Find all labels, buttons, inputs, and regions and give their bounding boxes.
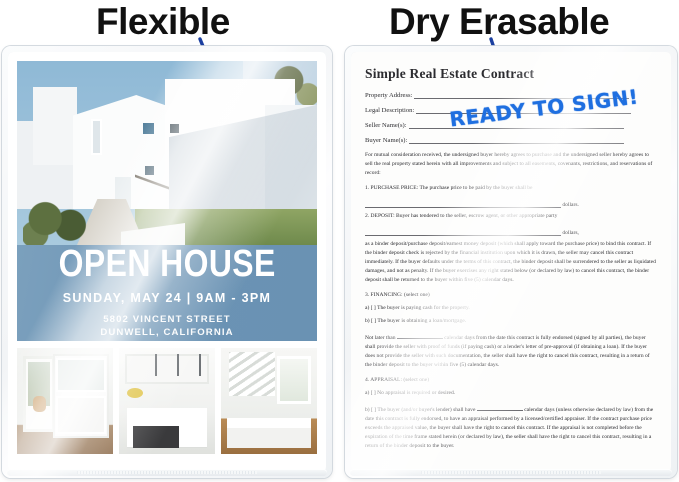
section-3-body-post: calendar days from the date this contrac… [365,335,650,368]
section-1-amount-row: dollars. [365,200,657,208]
field-label: Seller Name(s): [365,122,407,129]
section-4-body-pre: b) [ ] The buyer (and/or buyer's lender)… [365,407,475,413]
field-rule[interactable] [409,136,624,144]
sleeve-opening-lip-left [7,469,327,476]
section-4-option-a[interactable]: a) [ ] No appraisal is required or desir… [365,389,657,398]
interior-photo-strip [17,348,317,454]
field-label: Buyer Name(s): [365,137,407,144]
window-tall [91,119,102,155]
window-square-dark [170,124,179,133]
days-blank[interactable] [477,404,523,411]
days-blank[interactable] [397,332,443,339]
amount-rule[interactable] [365,200,561,208]
thumb-stairs-counter [221,348,317,454]
section-3-option-a[interactable]: a) [ ] The buyer is paying cash for the … [365,304,657,313]
document-sleeve-left[interactable]: OPEN HOUSE SUNDAY, MAY 24 | 9AM - 3PM 58… [2,46,332,478]
open-house-address: 5802 VINCENT STREET DUNWELL, CALIFORNIA [100,314,233,340]
open-house-title: OPEN HOUSE [58,246,275,282]
amount-rule[interactable] [365,228,561,236]
thumb-entry-cabinetry [17,348,113,454]
shrubbery [23,201,97,245]
section-3-heading: 3. FINANCING: (select one) [365,291,657,300]
open-house-flyer: OPEN HOUSE SUNDAY, MAY 24 | 9AM - 3PM 58… [8,52,326,472]
tree-branch [135,157,169,209]
open-house-banner: OPEN HOUSE SUNDAY, MAY 24 | 9AM - 3PM 58… [17,245,317,341]
contract-title: Simple Real Estate Contract [365,66,657,82]
house-tower [33,87,77,165]
section-2-body: as a binder deposit/purchase deposit/ear… [365,240,657,285]
field-label: Legal Description: [365,107,414,114]
section-4-heading: 4. APPRAISAL: (select one) [365,376,657,385]
contract-intro-paragraph: For mutual consideration received, the u… [365,151,657,178]
section-4-option-b: b) [ ] The buyer (and/or buyer's lender)… [365,404,657,451]
callout-label-flexible: Flexible [96,1,230,43]
hero-photo-house-exterior [17,61,317,245]
section-1-heading: 1. PURCHASE PRICE: The purchase price to… [365,184,657,193]
section-2-heading: 2. DEPOSIT: Buyer has tendered to the se… [365,212,657,221]
amount-unit: dollars, [562,230,578,236]
product-composite: Flexible Dry Erasable [0,0,679,482]
address-line-2: DUNWELL, CALIFORNIA [100,327,233,340]
address-line-1: 5802 VINCENT STREET [100,314,233,327]
field-label: Property Address: [365,92,412,99]
open-house-datetime: SUNDAY, MAY 24 | 9AM - 3PM [63,291,271,305]
section-3-body: Not later than calendar days from the da… [365,332,657,370]
section-3-option-b[interactable]: b) [ ] The buyer is obtaining a loan/mor… [365,317,657,326]
sleeve-opening-lip-right [350,469,672,476]
window-square-blue [143,123,154,134]
sleeve-window-left: OPEN HOUSE SUNDAY, MAY 24 | 9AM - 3PM 58… [8,52,326,472]
amount-unit: dollars. [562,202,578,208]
section-2-amount-row: dollars, [365,228,657,236]
callout-label-dry-erasable: Dry Erasable [389,1,609,43]
section-3-body-pre: Not later than [365,335,396,341]
field-buyer-names: Buyer Name(s): [365,136,657,144]
thumb-kitchen-island [119,348,215,454]
